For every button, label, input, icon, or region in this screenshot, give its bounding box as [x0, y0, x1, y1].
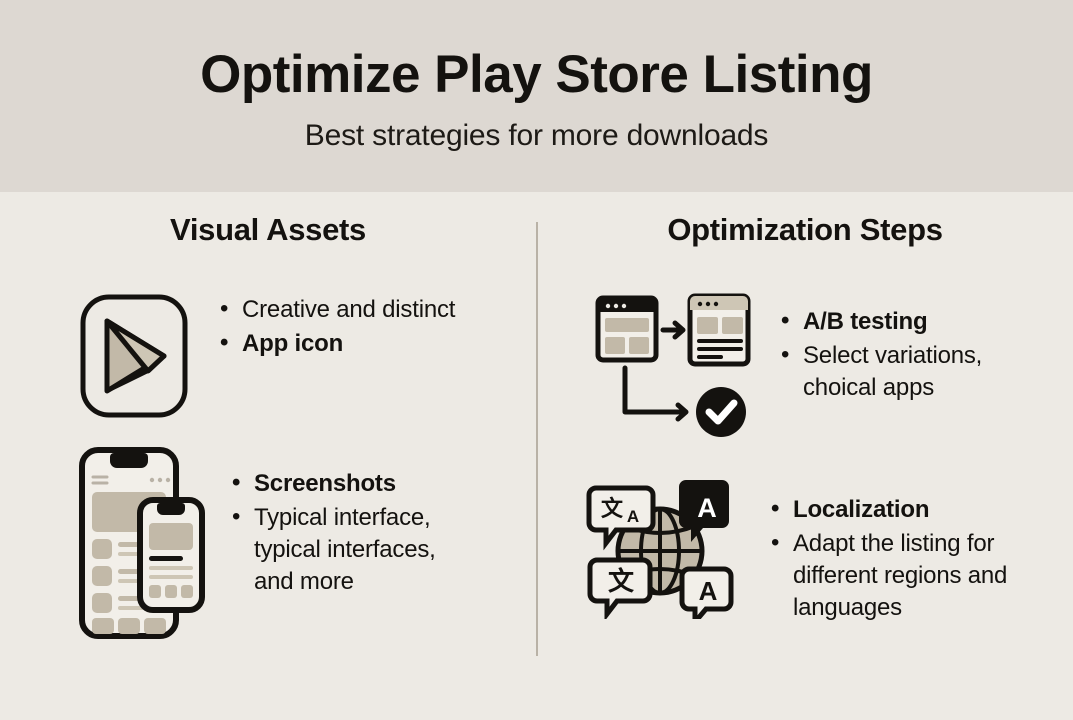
column-title-optimization-steps: Optimization Steps — [537, 212, 1073, 248]
globe-translation-bubbles-icon: 文 A A 文 A — [585, 474, 735, 619]
page-title: Optimize Play Store Listing — [200, 47, 873, 103]
section-app-icon: Creative and distinct App icon — [78, 292, 528, 420]
ab-test-windows-check-icon — [593, 290, 753, 440]
bullet-list-localization: Localization Adapt the listing for diffe… — [769, 492, 1029, 626]
section-localization: 文 A A 文 A Localization Adapt the listing… — [585, 474, 1065, 626]
bubble-glyph-cjk-a-cjk: 文 — [601, 496, 624, 522]
header-banner: Optimize Play Store Listing Best strateg… — [0, 0, 1073, 192]
section-screenshots: Screenshots Typical interface, typical i… — [78, 444, 528, 644]
column-divider — [536, 222, 538, 656]
bubble-glyph-cjk: 文 — [608, 566, 635, 597]
bubble-glyph-latin-a: A — [699, 576, 718, 606]
list-item: A/B testing — [779, 306, 1039, 338]
list-item: Screenshots — [230, 468, 480, 500]
infographic-page: Optimize Play Store Listing Best strateg… — [0, 0, 1073, 720]
list-item: Typical interface, typical interfaces, a… — [230, 502, 480, 598]
list-item: App icon — [218, 328, 458, 360]
bullet-list-ab-testing: A/B testing Select variations, choical a… — [779, 304, 1039, 406]
bubble-glyph-dark-a: A — [697, 493, 717, 523]
list-item: Localization — [769, 494, 1029, 526]
column-title-visual-assets: Visual Assets — [0, 212, 536, 248]
phone-screenshots-icon — [78, 444, 206, 644]
section-ab-testing: A/B testing Select variations, choical a… — [593, 290, 1063, 440]
bullet-list-app-icon: Creative and distinct App icon — [218, 292, 458, 362]
page-subtitle: Best strategies for more downloads — [305, 119, 768, 153]
list-item: Creative and distinct — [218, 294, 458, 326]
column-optimization-steps: Optimization Steps — [537, 212, 1073, 248]
column-visual-assets: Visual Assets Creative and distinct App … — [0, 212, 536, 248]
list-item: Select variations, choical apps — [779, 340, 1039, 404]
play-store-app-icon — [78, 292, 190, 420]
bubble-glyph-cjk-a-latin: A — [627, 507, 639, 526]
bullet-list-screenshots: Screenshots Typical interface, typical i… — [230, 466, 480, 600]
list-item: Adapt the listing for different regions … — [769, 528, 1029, 624]
